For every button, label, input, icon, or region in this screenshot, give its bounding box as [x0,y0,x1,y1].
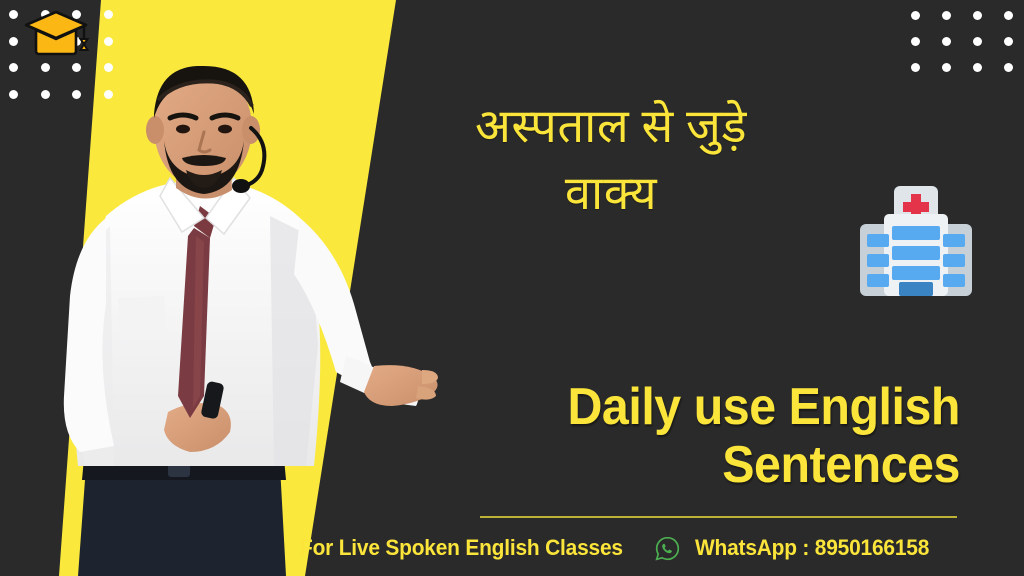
hindi-title: अस्पताल से जुड़े वाक्य [396,94,826,227]
english-headline: Daily use English Sentences [532,378,960,494]
video-thumbnail: अस्पताल से जुड़े वाक्य Daily use English… [0,0,1024,576]
headline-line-2: Sentences [532,436,960,494]
dot-grid-right [911,11,1024,89]
hindi-title-line-1: अस्पताल से जुड़े [396,94,826,161]
dot [104,10,113,19]
presenter-photo [18,66,438,576]
whatsapp-icon [654,535,681,562]
hospital-icon [856,184,976,312]
dot [973,63,982,72]
dot [9,10,18,19]
dot [942,63,951,72]
live-classes-text: For Live Spoken English Classes [300,535,623,561]
dot [1004,63,1013,72]
hindi-title-line-2: वाक्य [396,161,826,228]
headline-line-1: Daily use English [532,378,960,436]
footer-bar: For Live Spoken English Classes WhatsApp… [300,531,980,565]
whatsapp-contact-text: WhatsApp : 8950166158 [695,535,929,561]
dot [9,37,18,46]
dot [942,37,951,46]
dot [942,11,951,20]
dot [104,37,113,46]
dot [911,11,920,20]
dot [1004,37,1013,46]
dot [9,90,18,99]
dot [911,63,920,72]
dot [1004,11,1013,20]
dot [973,11,982,20]
dot [973,37,982,46]
dot [9,63,18,72]
divider-line [480,516,957,518]
dot [911,37,920,46]
graduation-cap-icon [18,6,94,60]
